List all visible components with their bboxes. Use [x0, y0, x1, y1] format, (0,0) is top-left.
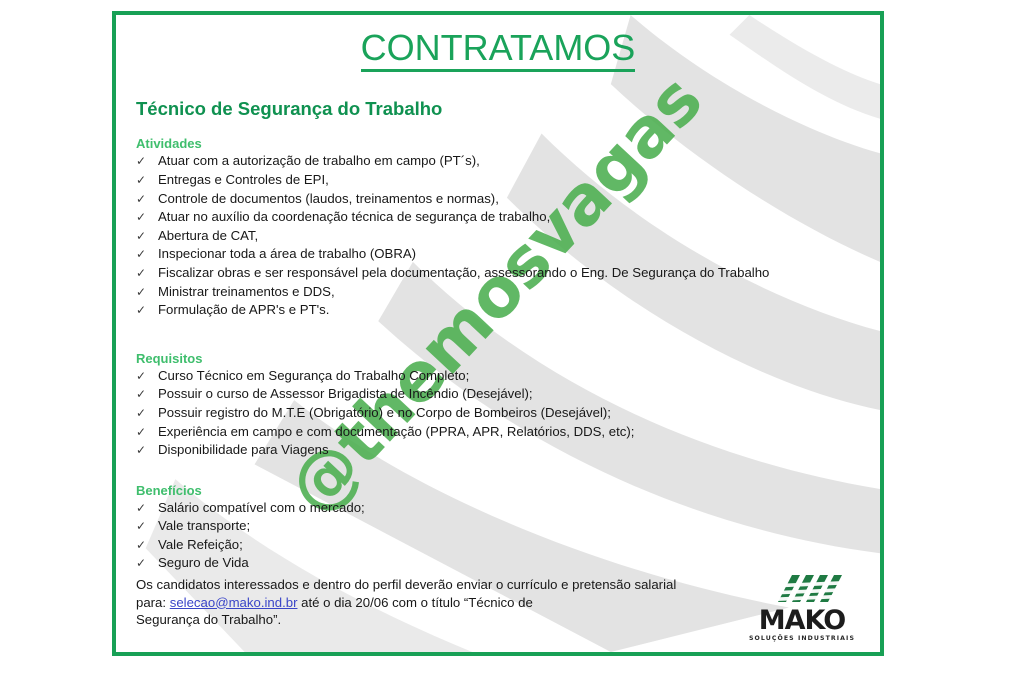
- list-item: ✓Vale transporte;: [136, 517, 880, 536]
- list-item-label: Possuir registro do M.T.E (Obrigatório) …: [158, 404, 880, 422]
- list-item-label: Entregas e Controles de EPI,: [158, 171, 880, 189]
- job-role-title: Técnico de Segurança do Trabalho: [136, 98, 880, 120]
- list-item-label: Atuar no auxílio da coordenação técnica …: [158, 208, 880, 226]
- check-icon: ✓: [136, 442, 158, 460]
- page-title-text: CONTRATAMOS: [361, 27, 636, 72]
- list-item-label: Fiscalizar obras e ser responsável pela …: [158, 264, 880, 282]
- check-icon: ✓: [136, 172, 158, 190]
- list-item: ✓Vale Refeição;: [136, 536, 880, 555]
- instructions-line-1: Os candidatos interessados e dentro do p…: [136, 577, 676, 592]
- list-item-label: Salário compatível com o mercado;: [158, 499, 880, 517]
- beneficios-list: ✓Salário compatível com o mercado; ✓Vale…: [136, 499, 880, 573]
- mako-tagline: SOLUÇÕES INDUSTRIAIS: [748, 635, 856, 642]
- check-icon: ✓: [136, 209, 158, 227]
- check-icon: ✓: [136, 368, 158, 386]
- list-item: ✓Fiscalizar obras e ser responsável pela…: [136, 264, 880, 283]
- list-item: ✓Possuir registro do M.T.E (Obrigatório)…: [136, 404, 880, 423]
- section-heading-requisitos: Requisitos: [136, 351, 880, 366]
- list-item: ✓Controle de documentos (laudos, treinam…: [136, 190, 880, 209]
- list-item: ✓Abertura de CAT,: [136, 227, 880, 246]
- check-icon: ✓: [136, 153, 158, 171]
- instructions-line-3: Segurança do Trabalho”.: [136, 612, 281, 627]
- list-item-label: Inspecionar toda a área de trabalho (OBR…: [158, 245, 880, 263]
- section-atividades: Atividades ✓Atuar com a autorização de t…: [136, 136, 880, 319]
- list-item-label: Formulação de APR's e PT's.: [158, 301, 880, 319]
- check-icon: ✓: [136, 265, 158, 283]
- mako-wordmark: MAKO: [748, 607, 856, 634]
- mako-logo: MAKO SOLUÇÕES INDUSTRIAIS: [748, 572, 856, 642]
- check-icon: ✓: [136, 405, 158, 423]
- list-item: ✓Formulação de APR's e PT's.: [136, 301, 880, 320]
- section-heading-beneficios: Benefícios: [136, 483, 880, 498]
- instructions-suffix: até o dia 20/06 com o título “Técnico de: [301, 595, 533, 610]
- check-icon: ✓: [136, 537, 158, 555]
- list-item-label: Curso Técnico em Segurança do Trabalho C…: [158, 367, 880, 385]
- page-title: CONTRATAMOS: [116, 27, 880, 68]
- list-item-label: Seguro de Vida: [158, 554, 880, 572]
- section-heading-atividades: Atividades: [136, 136, 880, 151]
- page-canvas: @themosvagas CONTRATAMOS Técnico de Segu…: [0, 0, 1024, 675]
- section-beneficios: Benefícios ✓Salário compatível com o mer…: [136, 483, 880, 573]
- list-item: ✓Atuar no auxílio da coordenação técnica…: [136, 208, 880, 227]
- list-item: ✓Seguro de Vida: [136, 554, 880, 573]
- application-instructions: Os candidatos interessados e dentro do p…: [136, 576, 796, 629]
- list-item-label: Vale Refeição;: [158, 536, 880, 554]
- list-item: ✓Inspecionar toda a área de trabalho (OB…: [136, 245, 880, 264]
- check-icon: ✓: [136, 191, 158, 209]
- check-icon: ✓: [136, 228, 158, 246]
- list-item-label: Experiência em campo e com documentação …: [158, 423, 880, 441]
- list-item-label: Abertura de CAT,: [158, 227, 880, 245]
- check-icon: ✓: [136, 386, 158, 404]
- list-item-label: Ministrar treinamentos e DDS,: [158, 283, 880, 301]
- list-item-label: Vale transporte;: [158, 517, 880, 535]
- list-item-label: Controle de documentos (laudos, treiname…: [158, 190, 880, 208]
- instructions-prefix: para:: [136, 595, 166, 610]
- list-item: ✓Salário compatível com o mercado;: [136, 499, 880, 518]
- atividades-list: ✓Atuar com a autorização de trabalho em …: [136, 152, 880, 319]
- mako-leaf-mark-icon: [748, 572, 856, 606]
- check-icon: ✓: [136, 246, 158, 264]
- requisitos-list: ✓Curso Técnico em Segurança do Trabalho …: [136, 367, 880, 460]
- check-icon: ✓: [136, 424, 158, 442]
- flyer-content: CONTRATAMOS Técnico de Segurança do Trab…: [116, 27, 880, 629]
- list-item-label: Possuir o curso de Assessor Brigadista d…: [158, 385, 880, 403]
- check-icon: ✓: [136, 518, 158, 536]
- list-item: ✓Ministrar treinamentos e DDS,: [136, 283, 880, 302]
- list-item-label: Disponibilidade para Viagens: [158, 441, 880, 459]
- check-icon: ✓: [136, 284, 158, 302]
- check-icon: ✓: [136, 302, 158, 320]
- check-icon: ✓: [136, 500, 158, 518]
- job-posting-flyer: @themosvagas CONTRATAMOS Técnico de Segu…: [112, 11, 884, 656]
- check-icon: ✓: [136, 555, 158, 573]
- list-item: ✓Possuir o curso de Assessor Brigadista …: [136, 385, 880, 404]
- list-item: ✓Experiência em campo e com documentação…: [136, 423, 880, 442]
- contact-email-link[interactable]: selecao@mako.ind.br: [170, 595, 298, 610]
- list-item-label: Atuar com a autorização de trabalho em c…: [158, 152, 880, 170]
- list-item: ✓Curso Técnico em Segurança do Trabalho …: [136, 367, 880, 386]
- list-item: ✓Entregas e Controles de EPI,: [136, 171, 880, 190]
- section-requisitos: Requisitos ✓Curso Técnico em Segurança d…: [136, 351, 880, 460]
- list-item: ✓Atuar com a autorização de trabalho em …: [136, 152, 880, 171]
- list-item: ✓Disponibilidade para Viagens: [136, 441, 880, 460]
